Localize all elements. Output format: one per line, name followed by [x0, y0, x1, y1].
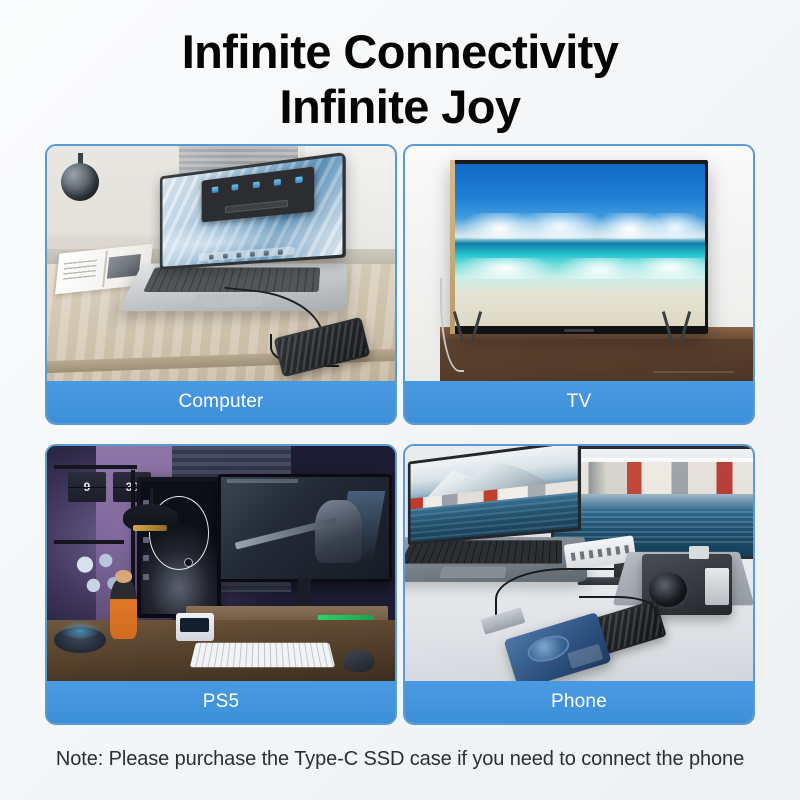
dock-icon [263, 250, 268, 255]
gaming-mouse [343, 650, 374, 671]
file-icon [212, 187, 219, 194]
tv-logo-bar [564, 329, 595, 332]
sidebar-icon [143, 574, 149, 580]
dock-icon [236, 252, 241, 257]
tv-photo [405, 146, 753, 381]
file-icon [295, 177, 302, 184]
laptop-lid [160, 152, 346, 270]
desk-lamp-icon [61, 153, 101, 201]
tv-screen [455, 164, 705, 326]
television-device [450, 160, 708, 334]
wall-shelf-top [54, 465, 138, 469]
dock-icon [250, 251, 255, 256]
file-icon [274, 179, 281, 186]
camera-grip [705, 568, 729, 606]
game-hud-bar [227, 479, 298, 483]
smart-display-clock [176, 613, 214, 641]
laptop-lid [408, 446, 582, 545]
computer-photo [47, 146, 395, 381]
console-drawer-line [653, 371, 734, 373]
camera-viewfinder [689, 546, 709, 559]
book-text-page [62, 260, 98, 283]
dock-icon [223, 253, 228, 258]
dock-icon [210, 254, 215, 259]
sidebar-icon [143, 537, 149, 543]
tv-console [440, 327, 753, 381]
phone-photo [405, 446, 753, 681]
file-icon [253, 182, 260, 189]
wall-shelf-lower [54, 540, 124, 544]
flip-clock-hours: 9 [68, 472, 106, 503]
file-icon-row [206, 176, 311, 194]
beach-clouds [455, 213, 705, 239]
mechanical-keyboard [190, 642, 335, 666]
laptop-trackpad [439, 567, 507, 579]
scenario-card-tv[interactable]: TV [403, 144, 755, 425]
laptop-keyboard [405, 541, 563, 564]
page-headline: Infinite Connectivity Infinite Joy [0, 24, 800, 135]
lamp-globe [61, 163, 99, 201]
dock-icon [278, 249, 283, 254]
scenario-card-ps5[interactable]: 9 30 [45, 444, 397, 725]
sidebar-icon [143, 555, 149, 561]
card-caption-ps5: PS5 [47, 681, 395, 723]
card-caption-phone: Phone [405, 681, 753, 723]
scenario-card-computer[interactable]: Computer [45, 144, 397, 425]
card-caption-computer: Computer [47, 381, 395, 423]
ps5-photo: 9 30 [47, 446, 395, 681]
headline-line-1: Infinite Connectivity [0, 24, 800, 79]
footer-note: Note: Please purchase the Type-C SSD cas… [0, 748, 800, 771]
game-character [315, 500, 362, 563]
card-caption-tv: TV [405, 381, 753, 423]
gaming-monitor [218, 474, 392, 582]
game-screen [221, 477, 389, 579]
beach-surf [455, 258, 705, 279]
headline-line-2: Infinite Joy [0, 79, 800, 134]
magnetic-ring [525, 631, 573, 666]
file-icon [232, 184, 239, 191]
lamp-bulb [133, 525, 167, 531]
scenario-card-grid: Computer TV [45, 144, 755, 726]
scenario-card-phone[interactable]: Phone [403, 444, 755, 725]
action-figure [110, 578, 138, 639]
laptop-screen [410, 446, 578, 542]
levitating-display [54, 627, 106, 653]
laptop-screen [163, 155, 343, 266]
window-list-bar [225, 199, 288, 213]
desk-lamp-icon [117, 488, 194, 535]
phone-clock-widget [567, 643, 603, 668]
